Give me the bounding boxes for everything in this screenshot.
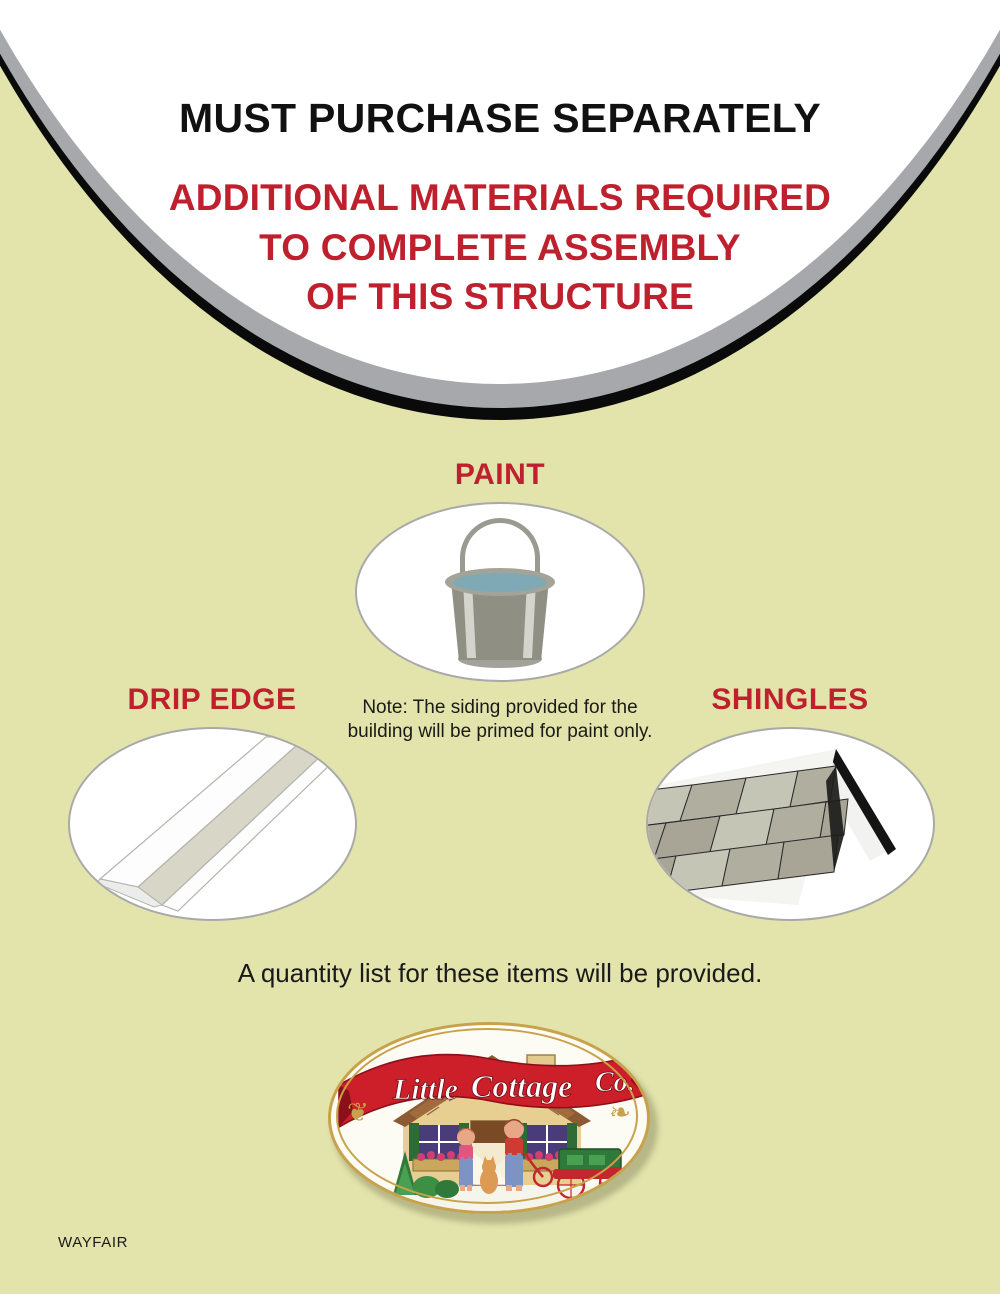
item-shingles: SHINGLES [640,683,940,921]
shingles-illustration-oval [646,727,935,921]
poster-root: MUST PURCHASE SEPARATELY ADDITIONAL MATE… [0,0,1000,1294]
logo-flourish-left-icon: ❦ [347,1099,369,1125]
item-shingles-label: SHINGLES [640,683,940,717]
headline-subtitle-line-2: TO COMPLETE ASSEMBLY [0,223,1000,273]
little-cottage-co-logo: Little Cottage Co. ® ❦ ❧ [328,1022,658,1222]
headline-subtitle-line-1: ADDITIONAL MATERIALS REQUIRED [0,173,1000,223]
logo-oval-frame: Little Cottage Co. ® ❦ ❧ [328,1022,650,1214]
logo-flourish-right-icon: ❧ [609,1099,631,1125]
headline-subtitle: ADDITIONAL MATERIALS REQUIRED TO COMPLET… [0,140,1000,322]
drip-edge-flashing-icon [70,729,355,919]
item-paint: PAINT Note: The siding provided for the … [340,458,660,745]
bucket-paint-surface [453,573,547,592]
headline-subtitle-line-3: OF THIS STRUCTURE [0,272,1000,322]
paint-illustration-oval [355,502,645,682]
logo-word-co: Co. [595,1067,635,1098]
item-drip-edge-label: DRIP EDGE [62,683,362,717]
item-paint-label: PAINT [340,458,660,492]
cottage-scene-illustration: Little Cottage Co. ® [331,1025,650,1214]
paint-siding-note: Note: The siding provided for the buildi… [340,696,660,745]
roof-shingles-icon [648,729,933,919]
headline-must-purchase-separately: MUST PURCHASE SEPARATELY [0,0,1000,140]
logo-word-cottage: Cottage [471,1068,572,1104]
drip-edge-illustration-oval [68,727,357,921]
quantity-list-note: A quantity list for these items will be … [0,958,1000,989]
paint-bucket-icon [437,518,563,668]
retailer-watermark: WAYFAIR [58,1234,128,1251]
logo-word-little: Little [392,1073,458,1106]
item-drip-edge: DRIP EDGE [62,683,362,921]
headline-block: MUST PURCHASE SEPARATELY ADDITIONAL MATE… [0,0,1000,322]
logo-registered-mark: ® [619,1053,627,1064]
